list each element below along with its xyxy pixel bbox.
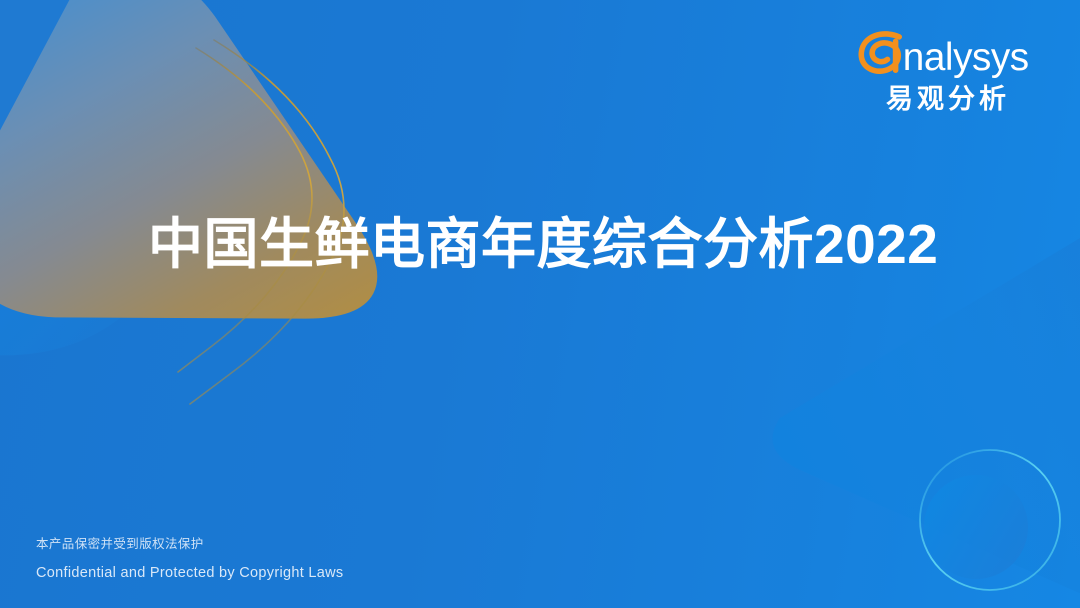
- logo-wordmark-text: nalysys: [903, 36, 1029, 79]
- page-title: 中国生鲜电商年度综合分析2022: [148, 212, 1008, 277]
- copyright-footer: 本产品保密并受到版权法保护 Confidential and Protected…: [36, 537, 343, 582]
- left-edge-blob: [0, 185, 145, 355]
- logo-chinese-name: 易观分析: [856, 85, 1036, 115]
- analysys-wordmark-icon: nalysys: [856, 28, 1036, 80]
- gold-curve-outline-inner: [178, 48, 312, 372]
- logo-swoosh-a-icon: [861, 34, 899, 71]
- footer-chinese-notice: 本产品保密并受到版权法保护: [36, 537, 343, 552]
- light-triangle-decoration: [28, 0, 146, 305]
- footer-english-notice: Confidential and Protected by Copyright …: [36, 565, 343, 582]
- corner-wash-shape: [0, 0, 172, 140]
- analysys-logo: nalysys 易观分析: [856, 28, 1036, 115]
- title-block: 中国生鲜电商年度综合分析2022: [148, 212, 1008, 277]
- bottom-right-ring: [920, 450, 1060, 590]
- report-cover-slide: nalysys 易观分析 中国生鲜电商年度综合分析2022 本产品保密并受到版权…: [0, 0, 1080, 608]
- bottom-right-circle: [924, 475, 1028, 579]
